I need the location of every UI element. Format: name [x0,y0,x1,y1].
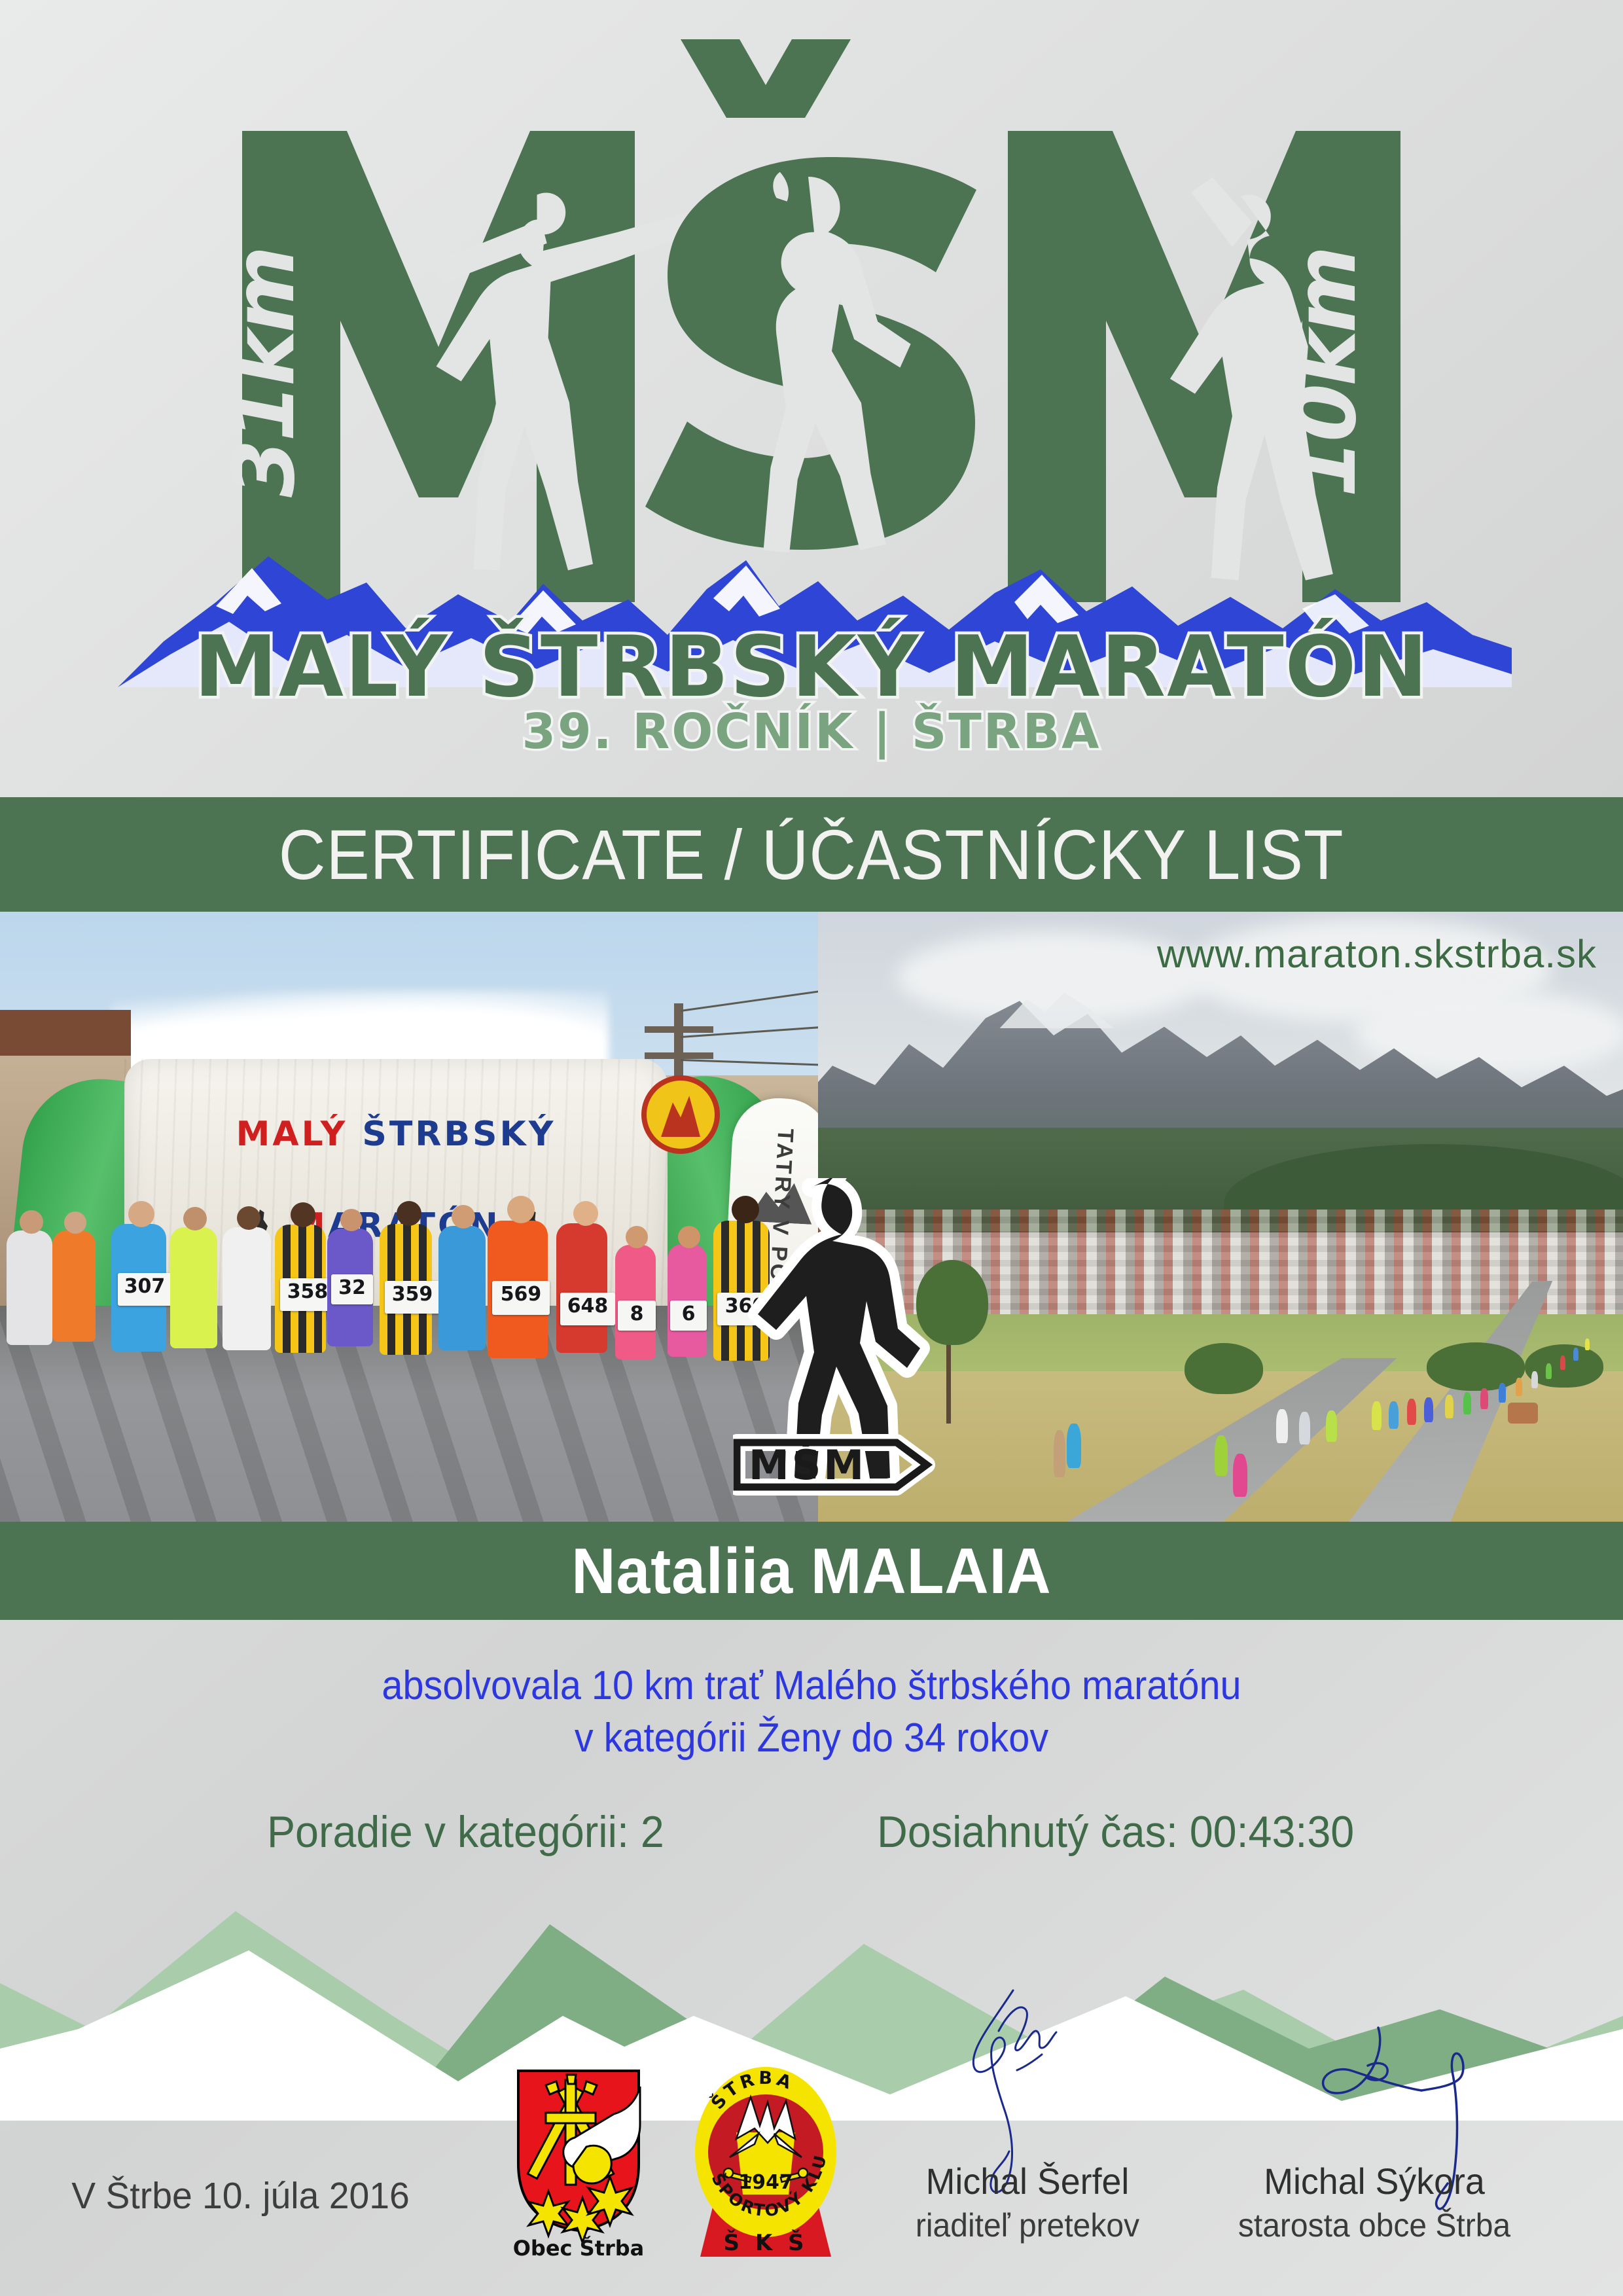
signatory-name: Michal Šerfel [851,2160,1204,2202]
category-rank: Poradie v kategórii: 2 [267,1806,664,1857]
bib-number: 8 [618,1300,656,1331]
website-url: www.maraton.skstrba.sk [1099,931,1597,977]
issue-date: V Štrbe 10. júla 2016 [71,2174,465,2217]
certificate-page: 31km 10km [0,0,1623,2296]
signature-block-mayor: Michal Sýkora starosta obce Štrba [1191,2160,1558,2244]
bib-number: 32 [331,1274,373,1304]
club-abbrev: Š K Š [724,2229,808,2256]
coat-of-arms-caption: Obec Štrba [513,2235,645,2261]
bib-number: 307 [118,1273,171,1306]
emblem-label: MŠM [749,1441,866,1489]
participant-name-banner: Nataliia MALAIA [0,1522,1623,1620]
bib-number: 6 [670,1300,707,1331]
bib-number: 359 [385,1281,440,1314]
event-title: MALÝ ŠTRBSKÝ MARATÓN [0,619,1623,716]
finish-time: Dosiahnutý čas: 00:43:30 [877,1806,1354,1857]
signatory-role: starosta obce Štrba [1198,2206,1550,2244]
footer-section: V Štrbe 10. júla 2016 O [0,2062,1623,2296]
event-subtitle: 39. ROČNÍK | ŠTRBA [0,704,1623,760]
club-year: 1947 [738,2171,793,2194]
svg-text:31km: 31km [223,248,313,497]
achievement-line-1: absolvovala 10 km trať Malého štrbského … [57,1662,1566,1709]
header-section: 31km 10km [0,0,1623,792]
certificate-title: CERTIFICATE / ÚČASTNÍCKY LIST [279,814,1344,895]
certificate-title-banner: CERTIFICATE / ÚČASTNÍCKY LIST [0,797,1623,912]
bib-number: 648 [560,1293,615,1325]
sks-strba-club-logo-icon: 1947 ŠTRBA ŠPORTOVÝ KLUB Š K Š [690,2060,841,2263]
msm-runner-cutout-icon: MŠM [733,1178,955,1505]
signature-block-race-director: Michal Šerfel riaditeľ pretekov [844,2160,1211,2244]
signatory-role: riaditeľ pretekov [851,2206,1204,2244]
obec-strba-coat-of-arms-icon: Obec Štrba [509,2066,648,2262]
bib-number: 569 [492,1281,550,1315]
arch-banner-line1: MALÝ ŠTRBSKÝ [124,1115,668,1154]
photo-start-line: MALÝ ŠTRBSKÝ MARATÓN ŠTART - CIEĽ TATRY … [0,912,818,1522]
signatory-name: Michal Sýkora [1198,2160,1550,2202]
results-section: absolvovala 10 km trať Malého štrbského … [0,1620,1623,1895]
msm-monogram-icon: 31km 10km [223,39,1420,602]
club-badge-icon [641,1075,720,1154]
results-row: Poradie v kategórii: 2 Dosiahnutý čas: 0… [0,1806,1623,1857]
msm-logo: 31km 10km [0,0,1623,628]
achievement-line-2: v kategórii Ženy do 34 rokov [57,1715,1566,1761]
participant-name: Nataliia MALAIA [571,1534,1051,1608]
